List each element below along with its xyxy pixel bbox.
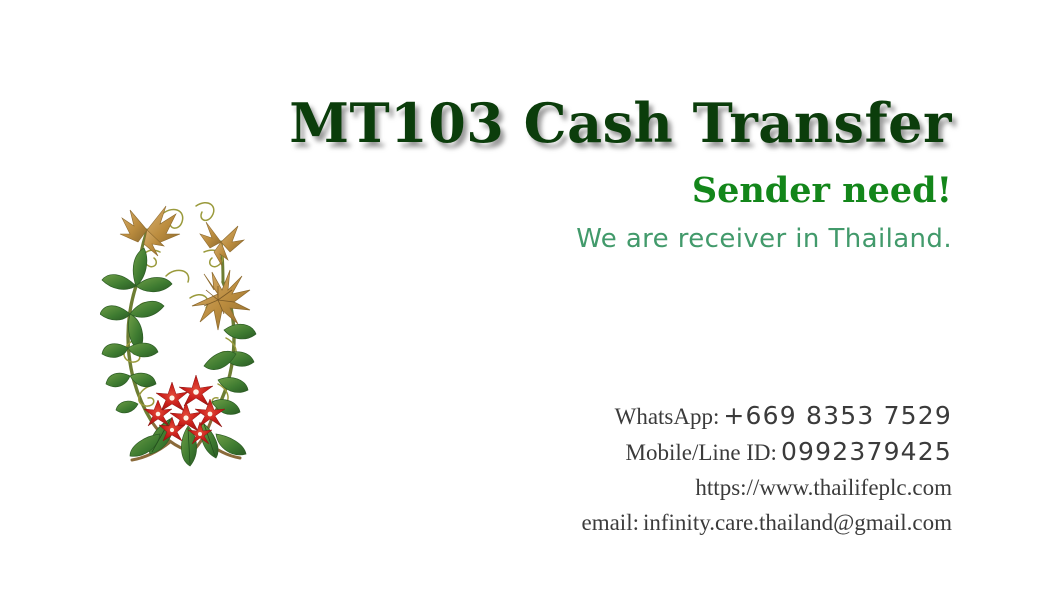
mobile-line-id-number[interactable]: 0992379425 — [781, 437, 952, 466]
email-address[interactable]: infinity.care.thailand@gmail.com — [643, 510, 952, 535]
mobile-line-id-label: Mobile/Line ID: — [626, 440, 777, 465]
contact-line-mobile: Mobile/Line ID: 0992379425 — [260, 436, 952, 472]
page-tagline: We are receiver in Thailand. — [260, 222, 952, 256]
page-subtitle: Sender need! — [260, 168, 952, 214]
contact-block: WhatsApp: +669 8353 7529 Mobile/Line ID:… — [260, 400, 952, 542]
website-url[interactable]: https://www.thailifeplc.com — [695, 475, 952, 500]
contact-line-website: https://www.thailifeplc.com — [260, 472, 952, 507]
contact-line-whatsapp: WhatsApp: +669 8353 7529 — [260, 400, 952, 436]
email-label: email: — [582, 510, 639, 535]
page-title: MT103 Cash Transfer — [260, 92, 952, 154]
whatsapp-number[interactable]: +669 8353 7529 — [723, 401, 952, 430]
poster-canvas: MT103 Cash Transfer Sender need! We are … — [0, 0, 1063, 600]
botanical-floral-wreath-illustration — [100, 190, 260, 470]
heading-block: MT103 Cash Transfer Sender need! We are … — [260, 92, 952, 256]
whatsapp-label: WhatsApp: — [615, 404, 720, 429]
contact-line-email: email: infinity.care.thailand@gmail.com — [260, 507, 952, 542]
